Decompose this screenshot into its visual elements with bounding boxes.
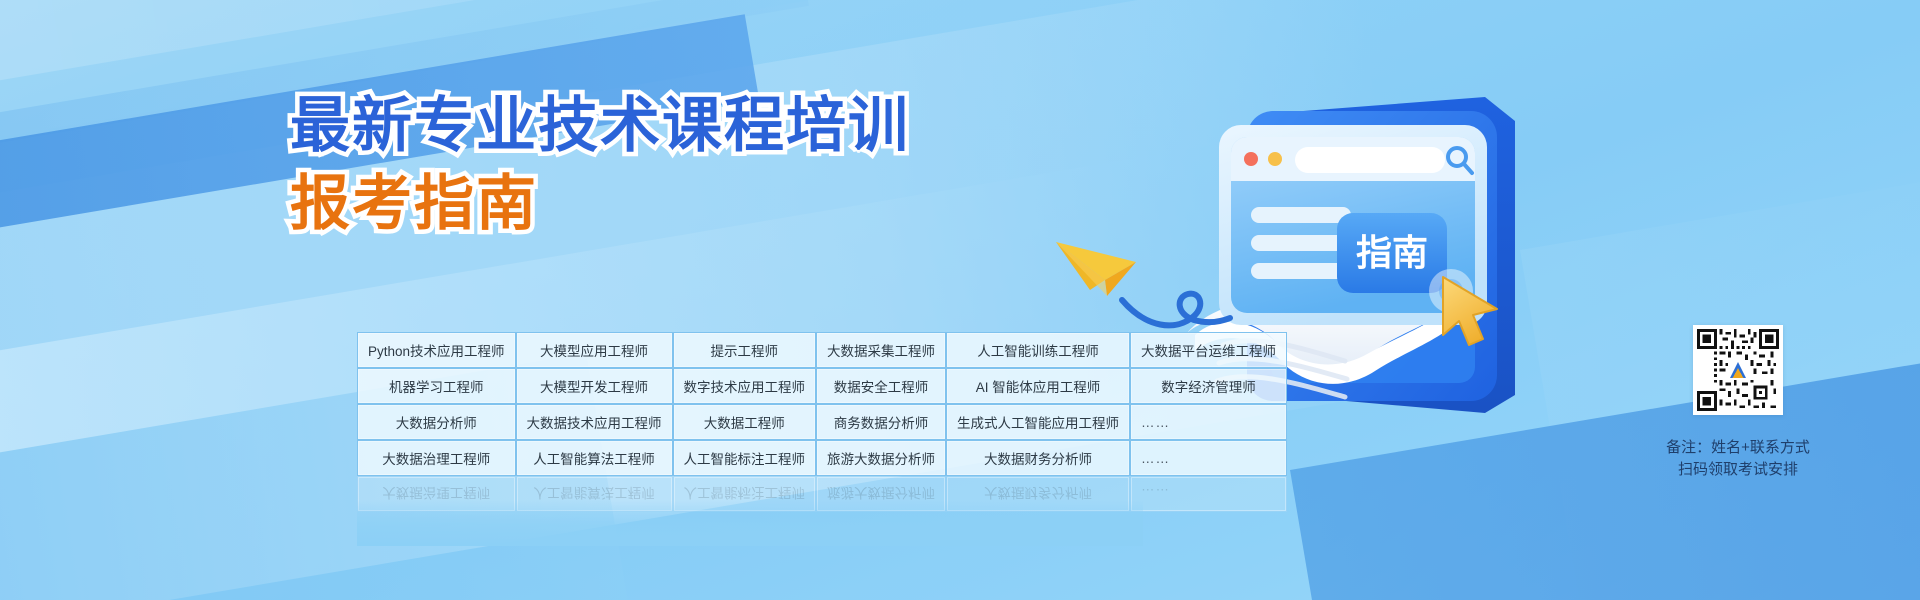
banner-title-line1: 最新专业技术课程培训 — [290, 96, 910, 156]
table-cell-ellipsis: …… — [1130, 404, 1287, 440]
kiosk-screen-button-label: 指南 — [1356, 232, 1428, 273]
table-cell: Python技术应用工程师 — [357, 332, 516, 368]
window-dot-yellow — [1268, 152, 1282, 166]
table-cell: 大模型应用工程师 — [516, 332, 673, 368]
table-cell: 商务数据分析师 — [816, 404, 946, 440]
table-cell: 人工智能训练工程师 — [946, 332, 1130, 368]
window-dot-red — [1244, 152, 1258, 166]
table-cell: 大数据治理工程师 — [357, 440, 516, 476]
table-cell: 人工智能标注工程师 — [673, 440, 817, 476]
qr-card[interactable] — [1693, 325, 1783, 415]
table-cell: 大数据采集工程师 — [816, 332, 946, 368]
course-table-body: Python技术应用工程师 大模型应用工程师 提示工程师 大数据采集工程师 人工… — [357, 332, 1287, 512]
table-cell-ellipsis: …… — [1130, 476, 1287, 512]
qr-note-line2: 扫码领取考试安排 — [1648, 459, 1828, 481]
table-cell: 人工智能算法工程师 — [516, 476, 673, 512]
table-cell: 大数据平台运维工程师 — [1130, 332, 1287, 368]
table-cell: 大数据工程师 — [673, 404, 817, 440]
table-cell: 数字技术应用工程师 — [673, 368, 817, 404]
table-cell: 生成式人工智能应用工程师 — [946, 404, 1130, 440]
qr-code-icon[interactable] — [1697, 329, 1779, 411]
table-cell: 数字经济管理师 — [1130, 368, 1287, 404]
table-cell: 旅游大数据分析师 — [816, 476, 946, 512]
table-cell: AI 智能体应用工程师 — [946, 368, 1130, 404]
table-row: 机器学习工程师 大模型开发工程师 数字技术应用工程师 数据安全工程师 AI 智能… — [357, 368, 1287, 404]
qr-note: 备注：姓名+联系方式 扫码领取考试安排 — [1648, 437, 1828, 481]
course-table-wrap: Python技术应用工程师 大模型应用工程师 提示工程师 大数据采集工程师 人工… — [357, 332, 1287, 512]
banner-title-line2: 报考指南 — [290, 174, 910, 234]
course-table: Python技术应用工程师 大模型应用工程师 提示工程师 大数据采集工程师 人工… — [357, 332, 1287, 512]
table-cell: 提示工程师 — [673, 332, 817, 368]
qr-note-line1: 备注：姓名+联系方式 — [1648, 437, 1828, 459]
table-cell-ellipsis: …… — [1130, 440, 1287, 476]
table-cell: 数据安全工程师 — [816, 368, 946, 404]
table-row: 大数据治理工程师 人工智能算法工程师 人工智能标注工程师 旅游大数据分析师 大数… — [357, 440, 1287, 476]
table-row: Python技术应用工程师 大模型应用工程师 提示工程师 大数据采集工程师 人工… — [357, 332, 1287, 368]
table-cell: 人工智能标注工程师 — [673, 476, 817, 512]
promo-banner: 最新专业技术课程培训 报考指南 — [0, 0, 1920, 600]
table-cell: 大数据财务分析师 — [946, 476, 1130, 512]
table-cell: 人工智能算法工程师 — [516, 440, 673, 476]
table-cell: 大模型开发工程师 — [516, 368, 673, 404]
table-cell: 旅游大数据分析师 — [816, 440, 946, 476]
table-cell: 大数据技术应用工程师 — [516, 404, 673, 440]
paper-plane-icon — [1050, 228, 1250, 338]
table-row: 大数据分析师 大数据技术应用工程师 大数据工程师 商务数据分析师 生成式人工智能… — [357, 404, 1287, 440]
qr-block: 备注：姓名+联系方式 扫码领取考试安排 — [1648, 325, 1828, 481]
table-cell: 机器学习工程师 — [357, 368, 516, 404]
table-row-reflection: 大数据治理工程师 人工智能算法工程师 人工智能标注工程师 旅游大数据分析师 大数… — [357, 476, 1287, 512]
table-cell: 大数据治理工程师 — [357, 476, 516, 512]
headline-group: 最新专业技术课程培训 报考指南 — [290, 96, 910, 234]
table-cell: 大数据分析师 — [357, 404, 516, 440]
table-cell: 大数据财务分析师 — [946, 440, 1130, 476]
